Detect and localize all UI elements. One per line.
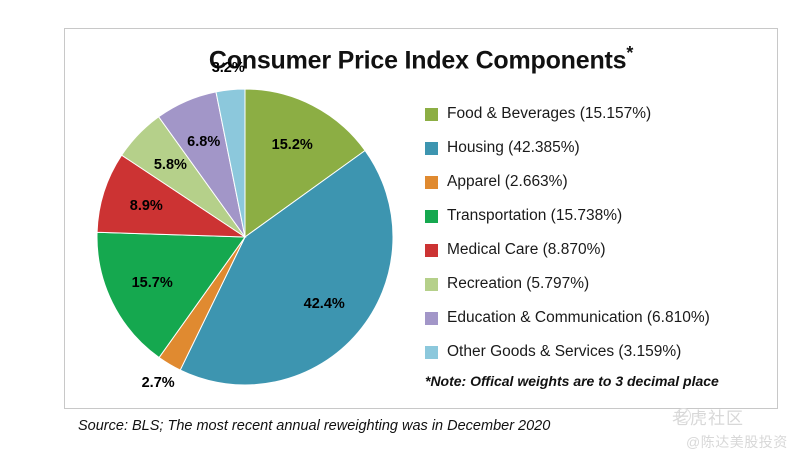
legend-item-label: Recreation (5.797%) [447, 275, 589, 293]
legend-item[interactable]: Housing (42.385%) [425, 131, 765, 165]
legend-item-label: Food & Beverages (15.157%) [447, 105, 651, 123]
chart-title-text: Consumer Price Index Components [209, 46, 627, 74]
chart-title-asterisk: * [626, 43, 633, 63]
source-caption: Source: BLS; The most recent annual rewe… [78, 418, 550, 434]
watermark-handle: @陈达美股投资 [686, 432, 788, 452]
legend-item[interactable]: Transportation (15.738%) [425, 199, 765, 233]
legend-item-label: Housing (42.385%) [447, 139, 580, 157]
legend-item[interactable]: Medical Care (8.870%) [425, 233, 765, 267]
legend-swatch-icon [425, 108, 438, 121]
chart-legend: Food & Beverages (15.157%)Housing (42.38… [425, 97, 765, 369]
legend-swatch-icon [425, 278, 438, 291]
legend-item-label: Education & Communication (6.810%) [447, 309, 710, 327]
legend-item[interactable]: Education & Communication (6.810%) [425, 301, 765, 335]
pie-slice-label: 42.4% [304, 296, 345, 312]
pie-slice-label: 5.8% [154, 157, 187, 173]
pie-slice-label: 3.2% [212, 60, 245, 76]
legend-item-label: Apparel (2.663%) [447, 173, 568, 191]
legend-swatch-icon [425, 244, 438, 257]
watermark-logo-icon [676, 408, 691, 423]
legend-swatch-icon [425, 176, 438, 189]
pie-svg [95, 87, 395, 387]
chart-title: Consumer Price Index Components* [65, 43, 777, 75]
footnote-note: *Note: Offical weights are to 3 decimal … [425, 373, 719, 389]
legend-item-label: Medical Care (8.870%) [447, 241, 606, 259]
pie-slice-label: 2.7% [142, 375, 175, 391]
legend-swatch-icon [425, 346, 438, 359]
pie-slice-label: 8.9% [130, 198, 163, 214]
legend-item[interactable]: Recreation (5.797%) [425, 267, 765, 301]
pie-slice-label: 6.8% [187, 134, 220, 150]
pie-chart: 15.2%42.4%2.7%15.7%8.9%5.8%6.8%3.2% [95, 87, 395, 387]
chart-page: Consumer Price Index Components* 15.2%42… [0, 0, 800, 460]
pie-slice-label: 15.7% [132, 275, 173, 291]
legend-swatch-icon [425, 142, 438, 155]
pie-slice-label: 15.2% [272, 137, 313, 153]
chart-container: Consumer Price Index Components* 15.2%42… [64, 28, 778, 409]
legend-item-label: Transportation (15.738%) [447, 207, 622, 225]
legend-item[interactable]: Other Goods & Services (3.159%) [425, 335, 765, 369]
legend-item[interactable]: Food & Beverages (15.157%) [425, 97, 765, 131]
legend-item-label: Other Goods & Services (3.159%) [447, 343, 681, 361]
legend-swatch-icon [425, 210, 438, 223]
legend-swatch-icon [425, 312, 438, 325]
legend-item[interactable]: Apparel (2.663%) [425, 165, 765, 199]
